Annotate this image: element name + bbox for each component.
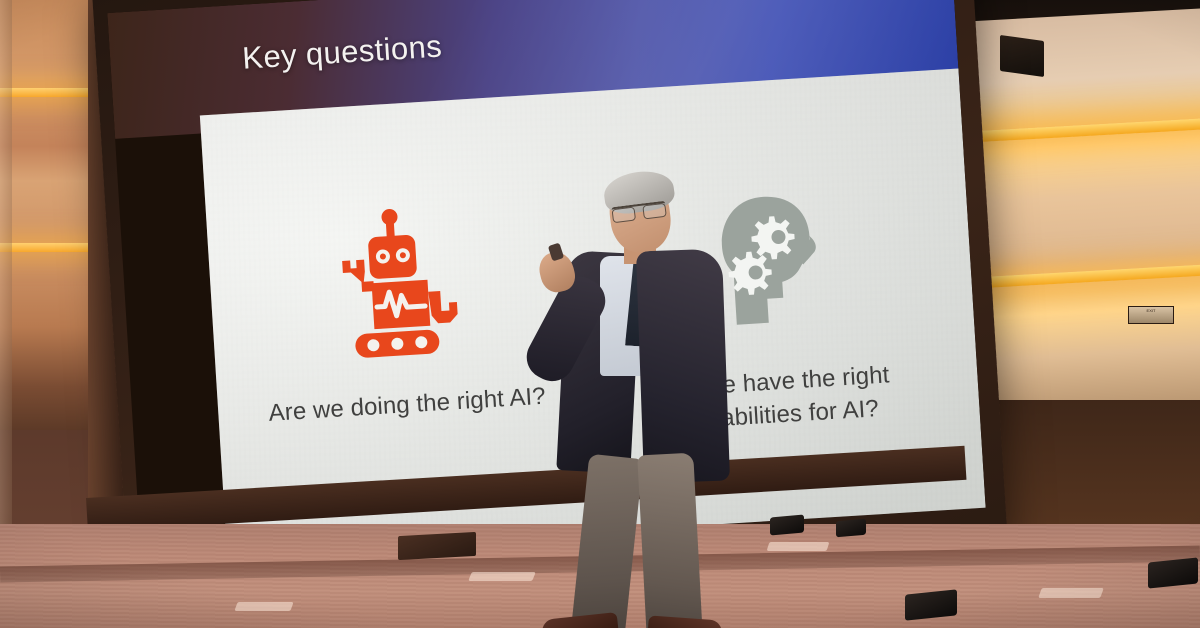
conference-stage-photo: EXIT Key questions [0, 0, 1200, 628]
floor-mark [767, 542, 830, 551]
floor-mark [468, 572, 536, 581]
right-led-strip-upper [964, 117, 1200, 142]
stage-light-fixture [905, 589, 957, 620]
stage-light-fixture [770, 515, 804, 536]
presenter [536, 178, 756, 628]
floor-mark [1038, 588, 1104, 598]
presenter-shoe-right [647, 615, 722, 628]
robot-icon [329, 204, 470, 364]
presenter-trouser-right [637, 453, 703, 628]
floor-connection-box [398, 532, 476, 560]
floor-mark [234, 602, 293, 611]
ceiling-speaker-icon [1000, 35, 1044, 77]
slide-column-left: Are we doing the right AI? [230, 189, 573, 432]
stage-light-fixture [1148, 557, 1198, 588]
stage-light-fixture [836, 519, 866, 538]
robot-icon-wrapper [230, 189, 570, 377]
exit-sign: EXIT [1128, 306, 1174, 324]
presenter-trouser-left [571, 454, 643, 628]
presenter-jacket-right [636, 249, 730, 484]
right-led-strip-lower [972, 263, 1200, 288]
